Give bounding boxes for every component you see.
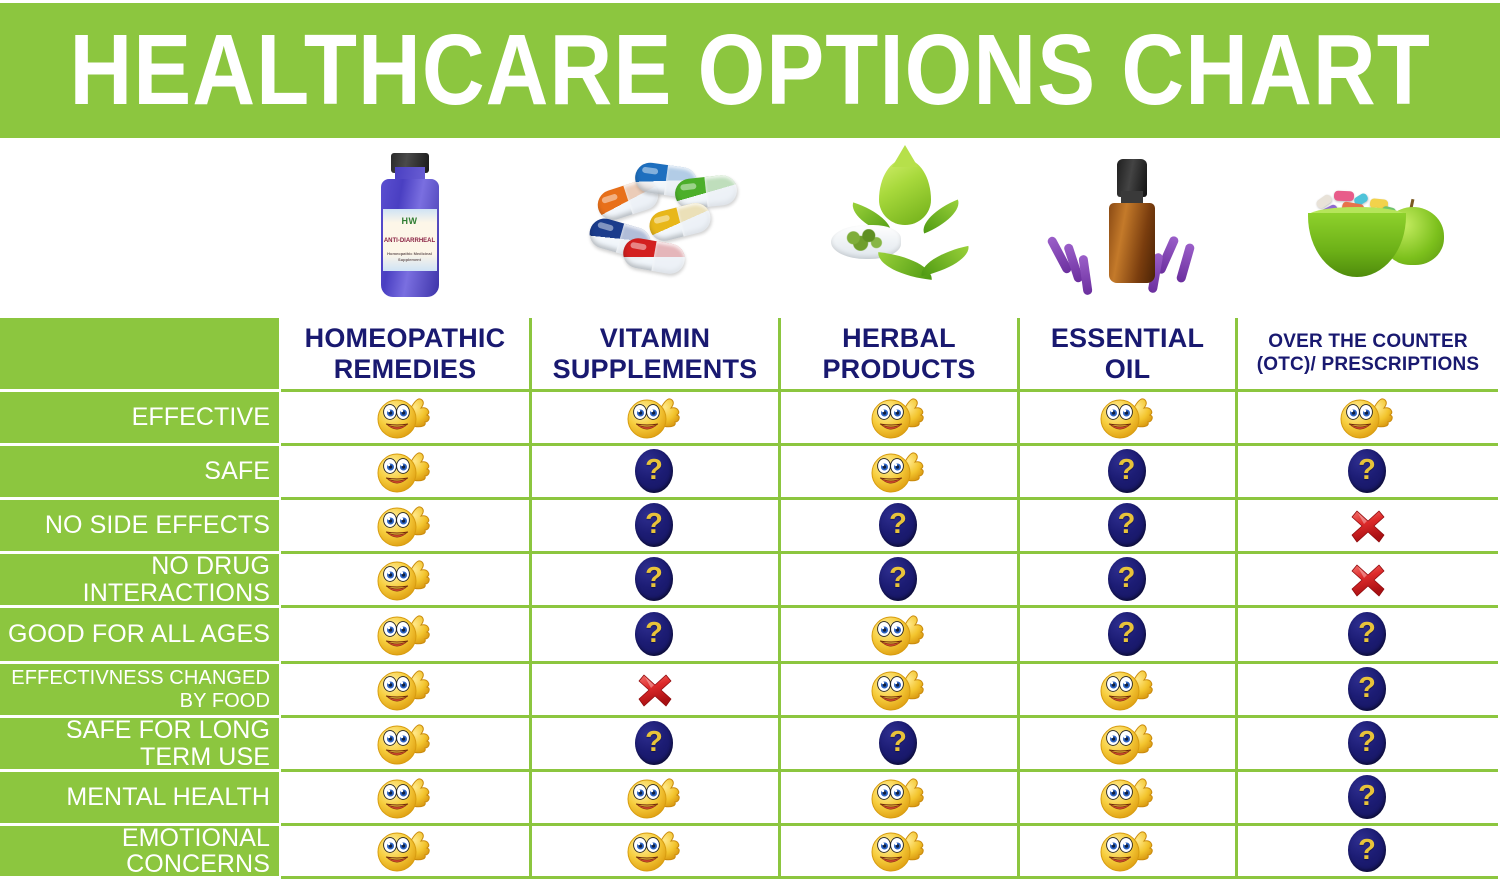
cell-r4-c1: [281, 554, 532, 608]
row-label-6: EFFECTIVNESS CHANGED BY FOOD: [0, 664, 281, 718]
column-header-1: HOMEOPATHIC REMEDIES: [281, 318, 532, 392]
smiley-thumbs-up-icon: [870, 612, 928, 658]
question-mark-icon: ?: [1348, 721, 1388, 767]
table-header-row: HOMEOPATHIC REMEDIESVITAMIN SUPPLEMENTSH…: [0, 318, 1500, 392]
cell-r1-c2: [532, 392, 781, 446]
row-label-text: SAFE: [204, 458, 270, 484]
cell-r6-c3: [781, 664, 1020, 718]
question-glyph: ?: [1118, 564, 1136, 593]
smiley-thumbs-up-icon: [376, 828, 434, 874]
column-header-5: OVER THE COUNTER (OTC)/ PRESCRIPTIONS: [1238, 318, 1498, 392]
cell-r9-c4: [1020, 826, 1238, 879]
row-label-9: EMOTIONAL CONCERNS: [0, 826, 281, 879]
question-badge-circle: ?: [1348, 449, 1386, 493]
smiley-thumbs-up-icon: [870, 828, 928, 874]
question-glyph: ?: [1118, 510, 1136, 539]
question-badge-circle: ?: [879, 721, 917, 765]
cell-r8-c1: [281, 772, 532, 826]
cell-r2-c5: ?: [1238, 446, 1498, 500]
smiley-thumbs-up-icon: [1099, 395, 1157, 441]
smiley-thumbs-up-icon: [870, 449, 928, 495]
smiley-thumbs-up-icon: [626, 828, 684, 874]
cell-r4-c3: ?: [781, 554, 1020, 608]
row-label-5: GOOD FOR ALL AGES: [0, 608, 281, 664]
question-mark-icon: ?: [1348, 775, 1388, 821]
cell-r1-c4: [1020, 392, 1238, 446]
question-badge-circle: ?: [635, 503, 673, 547]
column-header-3: HERBAL PRODUCTS: [781, 318, 1020, 392]
question-glyph: ?: [645, 456, 663, 485]
table-row: NO SIDE EFFECTS: [0, 500, 1500, 554]
healthcare-options-chart-page: HEALTHCARE OPTIONS CHART HWANTI-DIARRHEA…: [0, 0, 1500, 879]
smiley-thumbs-up-icon: [376, 557, 434, 603]
cell-r2-c2: ?: [532, 446, 781, 500]
question-glyph: ?: [645, 510, 663, 539]
cell-r6-c4: [1020, 664, 1238, 718]
smiley-thumbs-up-icon: [870, 667, 928, 713]
essential-oil-dropper-bottle-image: [1051, 151, 1211, 306]
row-label-text: EFFECTIVNESS CHANGED BY FOOD: [0, 667, 270, 712]
comparison-table: HOMEOPATHIC REMEDIESVITAMIN SUPPLEMENTSH…: [0, 318, 1500, 879]
product-image-cell-2: [534, 138, 783, 318]
cell-r5-c4: ?: [1020, 608, 1238, 664]
product-image-cell-3: [783, 138, 1022, 318]
herbal-leaves-droplet-image: [823, 151, 983, 306]
question-badge-circle: ?: [1348, 612, 1386, 656]
cell-r6-c1: [281, 664, 532, 718]
column-header-label: HERBAL PRODUCTS: [787, 323, 1011, 383]
row-label-3: NO SIDE EFFECTS: [0, 500, 281, 554]
row-label-7: SAFE FOR LONG TERM USE: [0, 718, 281, 772]
question-mark-icon: ?: [635, 449, 675, 495]
smiley-thumbs-up-icon: [870, 775, 928, 821]
row-label-4: NO DRUG INTERACTIONS: [0, 554, 281, 608]
cell-r7-c2: ?: [532, 718, 781, 772]
smiley-thumbs-up-icon: [626, 775, 684, 821]
smiley-thumbs-up-icon: [870, 395, 928, 441]
question-badge-circle: ?: [635, 557, 673, 601]
question-mark-icon: ?: [635, 612, 675, 658]
question-mark-icon: ?: [635, 503, 675, 549]
smiley-thumbs-up-icon: [1339, 395, 1397, 441]
cell-r8-c3: [781, 772, 1020, 826]
question-mark-icon: ?: [879, 503, 919, 549]
cell-r4-c5: [1238, 554, 1498, 608]
smiley-thumbs-up-icon: [376, 395, 434, 441]
question-glyph: ?: [889, 510, 907, 539]
red-cross-icon: [1348, 560, 1388, 600]
capsule: [646, 199, 713, 243]
question-badge-circle: ?: [635, 449, 673, 493]
question-mark-icon: ?: [1348, 667, 1388, 713]
question-glyph: ?: [1358, 619, 1376, 648]
question-glyph: ?: [1358, 782, 1376, 811]
question-mark-icon: ?: [1108, 449, 1148, 495]
question-glyph: ?: [1358, 728, 1376, 757]
table-row: MENTAL HEALTH: [0, 772, 1500, 826]
cell-r4-c4: ?: [1020, 554, 1238, 608]
cell-r9-c5: ?: [1238, 826, 1498, 879]
table-row: EFFECTIVNESS CHANGED BY FOOD: [0, 664, 1500, 718]
question-glyph: ?: [1358, 836, 1376, 865]
cell-r8-c4: [1020, 772, 1238, 826]
cell-r1-c5: [1238, 392, 1498, 446]
cell-r9-c3: [781, 826, 1020, 879]
question-badge-circle: ?: [1108, 449, 1146, 493]
question-glyph: ?: [1358, 674, 1376, 703]
question-badge-circle: ?: [1348, 828, 1386, 872]
table-corner-cell: [0, 318, 281, 392]
red-cross-icon: [635, 670, 675, 710]
column-header-label: ESSENTIAL OIL: [1026, 323, 1229, 383]
cell-r5-c2: ?: [532, 608, 781, 664]
question-mark-icon: ?: [879, 557, 919, 603]
cell-r7-c1: [281, 718, 532, 772]
smiley-thumbs-up-icon: [1099, 667, 1157, 713]
question-badge-circle: ?: [1108, 503, 1146, 547]
column-header-label: OVER THE COUNTER (OTC)/ PRESCRIPTIONS: [1244, 331, 1492, 377]
table-row: EMOTIONAL CONCERNS: [0, 826, 1500, 879]
row-label-text: EMOTIONAL CONCERNS: [0, 826, 270, 877]
column-header-4: ESSENTIAL OIL: [1020, 318, 1238, 392]
table-row: NO DRUG INTERACTIONS: [0, 554, 1500, 608]
smiley-thumbs-up-icon: [376, 721, 434, 767]
question-badge-circle: ?: [635, 612, 673, 656]
smiley-thumbs-up-icon: [1099, 721, 1157, 767]
row-label-8: MENTAL HEALTH: [0, 772, 281, 826]
product-image-cell-5: [1240, 138, 1500, 318]
pills-bowl-apple-image: [1290, 151, 1450, 306]
question-badge-circle: ?: [1108, 557, 1146, 601]
cell-r4-c2: ?: [532, 554, 781, 608]
cell-r6-c5: ?: [1238, 664, 1498, 718]
question-glyph: ?: [889, 728, 907, 757]
cell-r2-c4: ?: [1020, 446, 1238, 500]
question-badge-circle: ?: [879, 557, 917, 601]
question-mark-icon: ?: [1348, 828, 1388, 874]
cell-r2-c1: [281, 446, 532, 500]
smiley-thumbs-up-icon: [376, 612, 434, 658]
question-mark-icon: ?: [1348, 449, 1388, 495]
question-glyph: ?: [1118, 619, 1136, 648]
smiley-thumbs-up-icon: [1099, 775, 1157, 821]
column-header-2: VITAMIN SUPPLEMENTS: [532, 318, 781, 392]
cell-r5-c3: [781, 608, 1020, 664]
product-image-cell-4: [1022, 138, 1240, 318]
table-row: SAFE: [0, 446, 1500, 500]
question-glyph: ?: [645, 564, 663, 593]
cell-r2-c3: [781, 446, 1020, 500]
question-mark-icon: ?: [879, 721, 919, 767]
table-row: EFFECTIVE: [0, 392, 1500, 446]
question-mark-icon: ?: [635, 721, 675, 767]
question-mark-icon: ?: [1348, 612, 1388, 658]
cell-r9-c2: [532, 826, 781, 879]
row-label-text: GOOD FOR ALL AGES: [8, 621, 270, 647]
question-badge-circle: ?: [1348, 721, 1386, 765]
vitamin-capsules-image: [579, 151, 739, 306]
smiley-thumbs-up-icon: [626, 395, 684, 441]
cell-r8-c2: [532, 772, 781, 826]
cell-r3-c5: [1238, 500, 1498, 554]
question-mark-icon: ?: [635, 557, 675, 603]
row-label-text: EFFECTIVE: [132, 404, 270, 430]
row-label-text: NO DRUG INTERACTIONS: [0, 554, 270, 606]
cell-r3-c3: ?: [781, 500, 1020, 554]
cell-r1-c1: [281, 392, 532, 446]
cell-r5-c5: ?: [1238, 608, 1498, 664]
table-row: SAFE FOR LONG TERM USE: [0, 718, 1500, 772]
question-glyph: ?: [889, 564, 907, 593]
capsule: [620, 235, 686, 275]
question-badge-circle: ?: [1348, 667, 1386, 711]
cell-r6-c2: [532, 664, 781, 718]
cell-r5-c1: [281, 608, 532, 664]
question-mark-icon: ?: [1108, 612, 1148, 658]
question-glyph: ?: [645, 619, 663, 648]
row-label-text: NO SIDE EFFECTS: [45, 512, 270, 538]
row-label-1: EFFECTIVE: [0, 392, 281, 446]
cell-r8-c5: ?: [1238, 772, 1498, 826]
product-image-cell-1: HWANTI-DIARRHEALHomeopathic Medicinal Su…: [283, 138, 534, 318]
cell-r1-c3: [781, 392, 1020, 446]
question-glyph: ?: [1118, 456, 1136, 485]
question-glyph: ?: [1358, 456, 1376, 485]
cell-r3-c4: ?: [1020, 500, 1238, 554]
question-badge-circle: ?: [879, 503, 917, 547]
smiley-thumbs-up-icon: [376, 775, 434, 821]
question-badge-circle: ?: [635, 721, 673, 765]
title-banner: HEALTHCARE OPTIONS CHART: [0, 3, 1500, 138]
cell-r7-c5: ?: [1238, 718, 1498, 772]
question-badge-circle: ?: [1108, 612, 1146, 656]
cell-r3-c2: ?: [532, 500, 781, 554]
row-label-text: SAFE FOR LONG TERM USE: [0, 718, 270, 770]
cell-r7-c3: ?: [781, 718, 1020, 772]
cell-r7-c4: [1020, 718, 1238, 772]
homeopathic-remedy-bottle-image: HWANTI-DIARRHEALHomeopathic Medicinal Su…: [329, 151, 489, 306]
question-glyph: ?: [645, 728, 663, 757]
cell-r3-c1: [281, 500, 532, 554]
row-label-2: SAFE: [0, 446, 281, 500]
column-header-label: HOMEOPATHIC REMEDIES: [287, 323, 523, 383]
product-image-strip: HWANTI-DIARRHEALHomeopathic Medicinal Su…: [0, 138, 1500, 318]
smiley-thumbs-up-icon: [376, 449, 434, 495]
question-badge-circle: ?: [1348, 775, 1386, 819]
red-cross-icon: [1348, 506, 1388, 546]
question-mark-icon: ?: [1108, 557, 1148, 603]
row-label-text: MENTAL HEALTH: [66, 784, 270, 810]
smiley-thumbs-up-icon: [376, 503, 434, 549]
column-header-label: VITAMIN SUPPLEMENTS: [538, 323, 772, 383]
smiley-thumbs-up-icon: [376, 667, 434, 713]
table-row: GOOD FOR ALL AGES: [0, 608, 1500, 664]
cell-r9-c1: [281, 826, 532, 879]
question-mark-icon: ?: [1108, 503, 1148, 549]
smiley-thumbs-up-icon: [1099, 828, 1157, 874]
page-title: HEALTHCARE OPTIONS CHART: [69, 20, 1430, 120]
